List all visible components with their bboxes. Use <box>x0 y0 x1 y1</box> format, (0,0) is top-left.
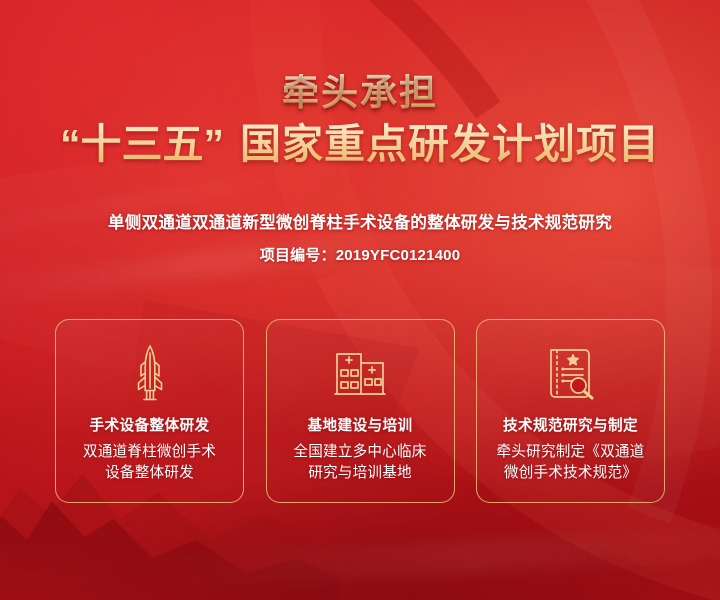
feature-card-list: 手术设备整体研发 双通道脊柱微创手术 设备整体研发 <box>55 319 665 503</box>
feature-card-title: 手术设备整体研发 <box>90 414 210 435</box>
project-subtitle: 单侧双通道双通道新型微创脊柱手术设备的整体研发与技术规范研究 <box>0 209 720 233</box>
feature-card-body: 全国建立多中心临床 研究与培训基地 <box>293 442 426 483</box>
promo-banner: 牵头承担 “十三五”国家重点研发计划项目 单侧双通道双通道新型微创脊柱手术设备的… <box>0 0 720 600</box>
feature-card-body: 牵头研究制定《双通道 微创手术技术规范》 <box>497 442 645 483</box>
project-number: 项目编号：2019YFC0121400 <box>0 244 720 265</box>
document-search-icon <box>545 344 597 402</box>
hospital-icon <box>334 344 386 402</box>
headline-secondary: “十三五”国家重点研发计划项目 <box>0 122 720 166</box>
headline-block: 牵头承担 “十三五”国家重点研发计划项目 <box>0 74 720 167</box>
feature-card-training-base[interactable]: 基地建设与培训 全国建立多中心临床 研究与培训基地 <box>266 319 455 503</box>
feature-card-research[interactable]: 手术设备整体研发 双通道脊柱微创手术 设备整体研发 <box>55 319 244 503</box>
headline-program-name: 国家重点研发计划项目 <box>240 121 660 167</box>
feature-card-standards[interactable]: 技术规范研究与制定 牵头研究制定《双通道 微创手术技术规范》 <box>476 319 665 503</box>
feature-card-title: 技术规范研究与制定 <box>503 414 638 435</box>
rocket-icon <box>133 344 167 402</box>
feature-card-body: 双通道脊柱微创手术 设备整体研发 <box>83 442 216 483</box>
headline-quoted-term: “十三五” <box>60 121 224 167</box>
headline-primary: 牵头承担 <box>0 74 720 112</box>
feature-card-title: 基地建设与培训 <box>308 414 413 435</box>
